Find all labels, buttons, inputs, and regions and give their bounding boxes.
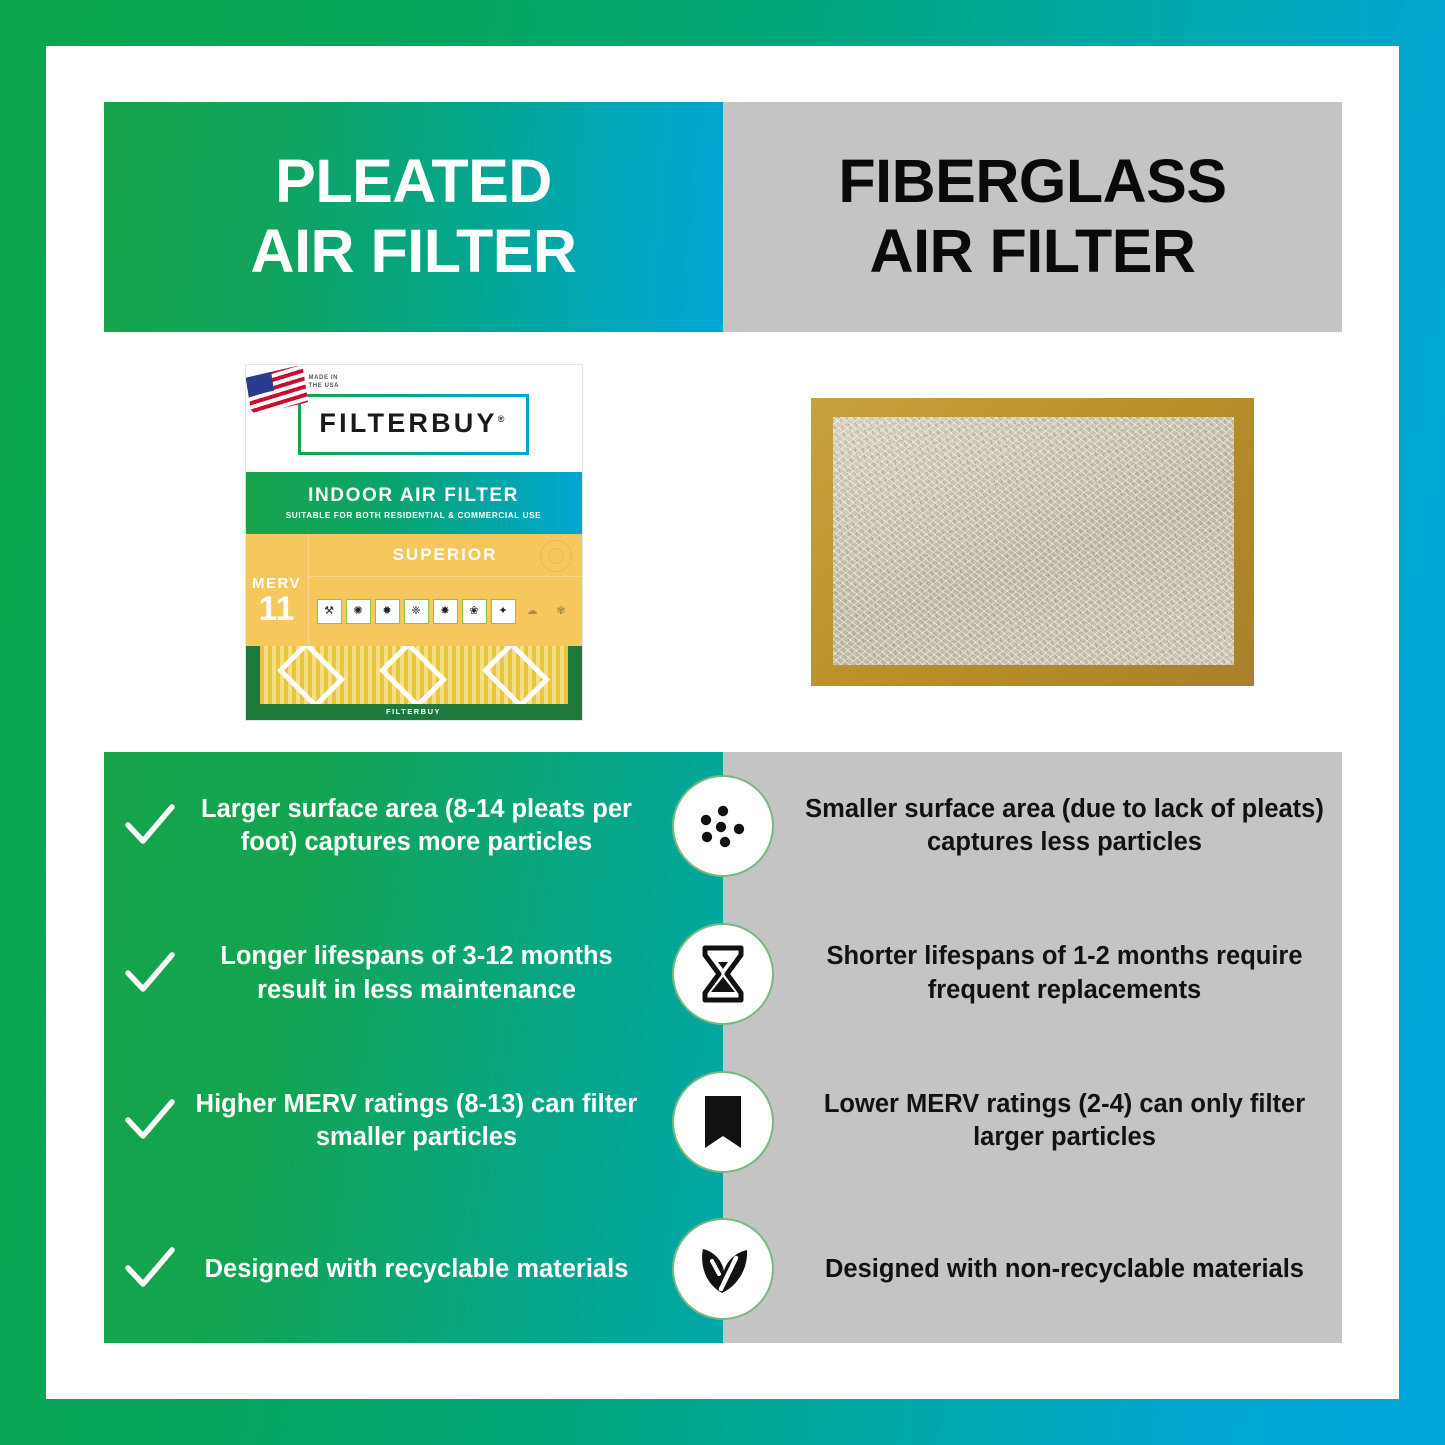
pleated-media-illustration: FILTERBUY xyxy=(246,646,582,720)
band-title: INDOOR AIR FILTER xyxy=(308,485,519,507)
row-4-right-cell: Designed with non-recyclable materials xyxy=(723,1253,1342,1286)
row-3-left-cell: Higher MERV ratings (8-13) can filter sm… xyxy=(104,1088,723,1154)
box-footer-brand: FILTERBUY xyxy=(246,704,582,720)
smoke-icon: ✸ xyxy=(433,599,458,624)
indoor-air-filter-band: INDOOR AIR FILTER SUITABLE FOR BOTH RESI… xyxy=(246,472,582,534)
check-icon xyxy=(122,798,178,854)
pollen-icon: ✺ xyxy=(346,599,371,624)
row-1-right-cell: Smaller surface area (due to lack of ple… xyxy=(723,793,1342,859)
made-in-usa-label: MADE IN THE USA xyxy=(309,374,340,390)
header-row: PLEATED AIR FILTER FIBERGLASS AIR FILTER xyxy=(104,102,1342,332)
merv-band-right: SUPERIOR ⚒ ✺ ✹ ❈ ✸ ❀ ✦ ☁ xyxy=(309,534,582,646)
product-row: MADE IN THE USA FILTERBUY® INDOOR AIR FI… xyxy=(104,332,1342,752)
merv-rating-block: MERV 11 xyxy=(246,534,309,646)
filter-box-top: MADE IN THE USA FILTERBUY® xyxy=(246,365,582,472)
grid-diamond xyxy=(482,646,550,709)
check-icon xyxy=(122,1093,178,1149)
comparison-infographic: PLEATED AIR FILTER FIBERGLASS AIR FILTER… xyxy=(0,0,1445,1445)
smog-icon: ✾ xyxy=(549,599,574,624)
product-cell-fiberglass xyxy=(723,332,1342,752)
row-2-left-cell: Longer lifespans of 3-12 months result i… xyxy=(104,940,723,1006)
bookmark-icon-glyph xyxy=(695,1090,751,1154)
grid-diamond xyxy=(277,646,345,709)
infographic-canvas: PLEATED AIR FILTER FIBERGLASS AIR FILTER… xyxy=(46,46,1399,1399)
leaf-icon-glyph xyxy=(691,1239,755,1299)
grade-label: SUPERIOR xyxy=(393,545,498,565)
row-4-left-cell: Designed with recyclable materials xyxy=(104,1241,723,1297)
header-pleated-title: PLEATED AIR FILTER xyxy=(251,147,577,286)
row-1-left-text: Larger surface area (8-14 pleats per foo… xyxy=(192,793,641,859)
mold-icon: ✹ xyxy=(375,599,400,624)
header-fiberglass: FIBERGLASS AIR FILTER xyxy=(723,102,1342,332)
row-3-left-text: Higher MERV ratings (8-13) can filter sm… xyxy=(192,1088,641,1154)
merv-band: MERV 11 SUPERIOR ⚒ ✺ ✹ xyxy=(246,534,582,646)
brand-name: FILTERBUY xyxy=(319,408,497,438)
check-icon xyxy=(122,946,178,1002)
row-1-left-cell: Larger surface area (8-14 pleats per foo… xyxy=(104,793,723,859)
filterbuy-logo: FILTERBUY® xyxy=(298,394,528,455)
particles-icon xyxy=(672,775,774,877)
pleated-filter-product-image: MADE IN THE USA FILTERBUY® INDOOR AIR FI… xyxy=(246,365,582,720)
merv-value: 11 xyxy=(259,592,295,626)
capture-icon-strip: ⚒ ✺ ✹ ❈ ✸ ❀ ✦ ☁ ✾ xyxy=(309,577,582,646)
bacteria-icon: ❈ xyxy=(404,599,429,624)
odor-icon: ☁ xyxy=(520,599,545,624)
product-cell-pleated: MADE IN THE USA FILTERBUY® INDOOR AIR FI… xyxy=(104,332,723,752)
particles-icon-glyph xyxy=(691,794,755,858)
pet-dander-icon: ❀ xyxy=(462,599,487,624)
grade-row: SUPERIOR xyxy=(309,534,582,577)
grid-diamond xyxy=(379,646,447,709)
hourglass-icon xyxy=(672,923,774,1025)
row-2-left-text: Longer lifespans of 3-12 months result i… xyxy=(192,940,641,1006)
row-4-left-text: Designed with recyclable materials xyxy=(192,1253,641,1286)
row-3-right-text: Lower MERV ratings (2-4) can only filter… xyxy=(805,1088,1324,1154)
row-2-right-text: Shorter lifespans of 1-2 months require … xyxy=(805,940,1324,1006)
row-4-right-text: Designed with non-recyclable materials xyxy=(805,1253,1324,1286)
hourglass-icon-glyph xyxy=(694,942,752,1006)
registered-mark: ® xyxy=(498,414,508,424)
certification-seal-icon xyxy=(540,540,572,572)
filterbuy-logo-text: FILTERBUY® xyxy=(319,408,507,439)
check-icon xyxy=(122,1241,178,1297)
dust-icon: ⚒ xyxy=(317,599,342,624)
bookmark-icon xyxy=(672,1071,774,1173)
comparison-block: Larger surface area (8-14 pleats per foo… xyxy=(104,752,1342,1343)
support-grid xyxy=(260,646,568,704)
row-2-right-cell: Shorter lifespans of 1-2 months require … xyxy=(723,940,1342,1006)
row-1-right-text: Smaller surface area (due to lack of ple… xyxy=(805,793,1324,859)
leaf-icon xyxy=(672,1218,774,1320)
fiberglass-mesh-texture xyxy=(833,417,1234,665)
row-3-right-cell: Lower MERV ratings (2-4) can only filter… xyxy=(723,1088,1342,1154)
dust-mite-icon: ✦ xyxy=(491,599,516,624)
band-subtitle: SUITABLE FOR BOTH RESIDENTIAL & COMMERCI… xyxy=(286,511,542,520)
header-pleated: PLEATED AIR FILTER xyxy=(104,102,723,332)
header-fiberglass-title: FIBERGLASS AIR FILTER xyxy=(838,147,1226,286)
fiberglass-filter-product-image xyxy=(811,398,1254,686)
